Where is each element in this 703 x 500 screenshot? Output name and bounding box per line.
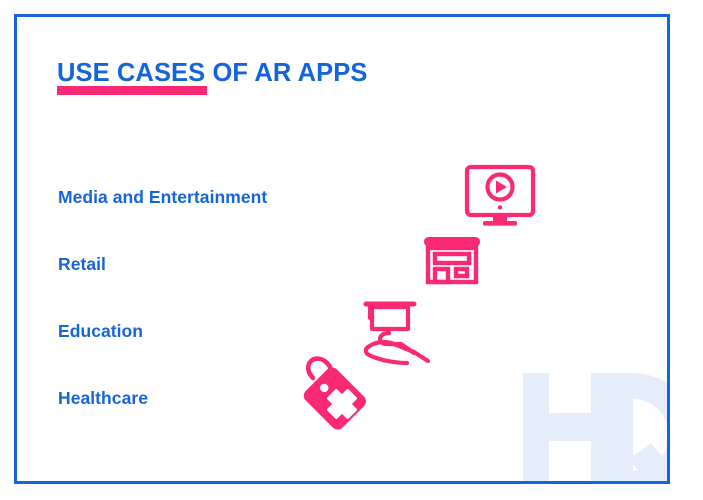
hq-watermark: [505, 347, 667, 481]
title-rest-text: OF AR APPS: [205, 59, 367, 87]
list-item-label: Healthcare: [58, 388, 148, 409]
page-title: USE CASES OF AR APPS: [57, 61, 367, 87]
slide-canvas: USE CASES OF AR APPS Media and Entertain…: [17, 17, 667, 481]
monitor-play-icon: [449, 149, 549, 229]
medical-tag-icon: [292, 350, 382, 436]
slide-root: USE CASES OF AR APPS Media and Entertain…: [0, 0, 703, 500]
list-item-label: Education: [58, 321, 143, 342]
list-item[interactable]: Retail: [58, 231, 398, 298]
list-item[interactable]: Media and Entertainment: [58, 164, 398, 231]
list-item-label: Media and Entertainment: [58, 187, 267, 208]
list-item-label: Retail: [58, 254, 106, 275]
title-highlighted-text: USE CASES: [57, 61, 205, 87]
